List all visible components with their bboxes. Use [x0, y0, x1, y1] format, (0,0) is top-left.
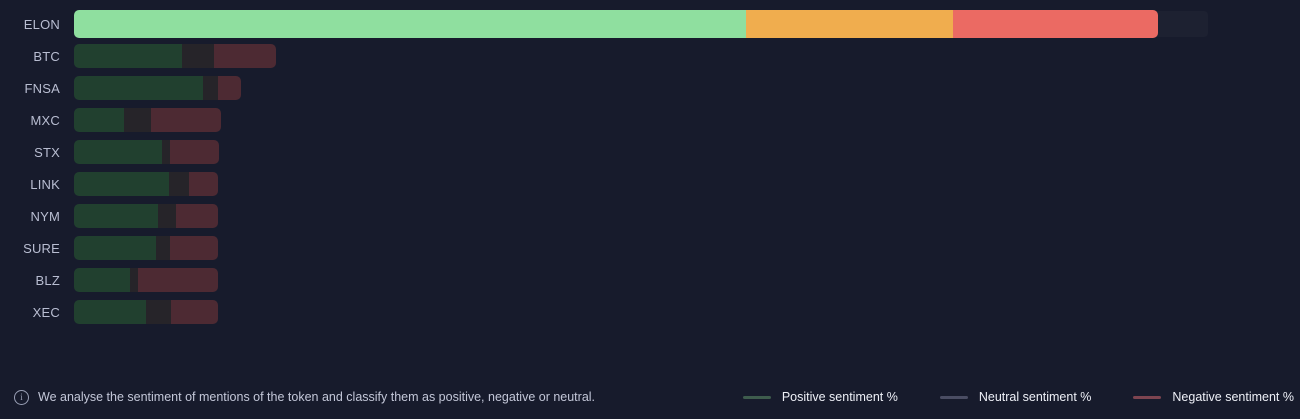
footer-note: i We analyse the sentiment of mentions o…	[14, 390, 595, 405]
bar-row-elon[interactable]: ELON	[0, 8, 1300, 40]
positive-segment[interactable]	[74, 108, 124, 132]
row-label-nym[interactable]: NYM	[0, 209, 74, 224]
positive-segment[interactable]	[74, 300, 146, 324]
neutral-segment[interactable]	[156, 236, 170, 260]
negative-segment[interactable]	[138, 268, 218, 292]
neutral-segment[interactable]	[124, 108, 151, 132]
legend-label: Neutral sentiment %	[979, 390, 1092, 404]
footer-note-text: We analyse the sentiment of mentions of …	[38, 390, 595, 404]
bar-row-link[interactable]: LINK	[0, 168, 1300, 200]
neutral-segment[interactable]	[169, 172, 189, 196]
legend-item-0[interactable]: Positive sentiment %	[743, 390, 898, 404]
stacked-bar[interactable]	[74, 268, 218, 292]
row-label-fnsa[interactable]: FNSA	[0, 81, 74, 96]
legend-item-2[interactable]: Negative sentiment %	[1133, 390, 1294, 404]
positive-segment[interactable]	[74, 76, 203, 100]
row-label-link[interactable]: LINK	[0, 177, 74, 192]
positive-segment[interactable]	[74, 268, 130, 292]
bar-row-xec[interactable]: XEC	[0, 296, 1300, 328]
stacked-bar[interactable]	[74, 172, 218, 196]
bar-row-blz[interactable]: BLZ	[0, 264, 1300, 296]
neutral-segment[interactable]	[746, 10, 953, 38]
stacked-bar[interactable]	[74, 44, 276, 68]
negative-segment[interactable]	[170, 140, 219, 164]
sentiment-bar-chart-panel: ELONBTCFNSAMXCSTXLINKNYMSUREBLZXEC i We …	[0, 0, 1300, 419]
legend-label: Positive sentiment %	[782, 390, 898, 404]
negative-segment[interactable]	[953, 10, 1158, 38]
info-icon: i	[14, 390, 29, 405]
chart-legend: Positive sentiment %Neutral sentiment %N…	[743, 375, 1294, 419]
stacked-bar[interactable]	[74, 300, 218, 324]
legend-item-1[interactable]: Neutral sentiment %	[940, 390, 1092, 404]
stacked-bar[interactable]	[74, 108, 221, 132]
negative-segment[interactable]	[176, 204, 218, 228]
neutral-segment[interactable]	[146, 300, 171, 324]
row-label-sure[interactable]: SURE	[0, 241, 74, 256]
row-label-btc[interactable]: BTC	[0, 49, 74, 64]
stacked-bar[interactable]	[74, 10, 1158, 38]
row-label-xec[interactable]: XEC	[0, 305, 74, 320]
bar-row-sure[interactable]: SURE	[0, 232, 1300, 264]
neutral-segment[interactable]	[130, 268, 138, 292]
row-label-elon[interactable]: ELON	[0, 17, 74, 32]
stacked-bar[interactable]	[74, 204, 218, 228]
bar-row-nym[interactable]: NYM	[0, 200, 1300, 232]
positive-segment[interactable]	[74, 140, 162, 164]
negative-segment[interactable]	[214, 44, 276, 68]
positive-segment[interactable]	[74, 172, 169, 196]
bar-row-stx[interactable]: STX	[0, 136, 1300, 168]
negative-segment[interactable]	[170, 236, 218, 260]
positive-segment[interactable]	[74, 10, 746, 38]
stacked-bar[interactable]	[74, 140, 219, 164]
neutral-segment[interactable]	[203, 76, 218, 100]
bar-row-btc[interactable]: BTC	[0, 40, 1300, 72]
neutral-segment[interactable]	[158, 204, 176, 228]
chart-footer: i We analyse the sentiment of mentions o…	[0, 375, 1300, 419]
row-label-blz[interactable]: BLZ	[0, 273, 74, 288]
legend-swatch-icon	[1133, 396, 1161, 399]
row-label-stx[interactable]: STX	[0, 145, 74, 160]
legend-swatch-icon	[940, 396, 968, 399]
positive-segment[interactable]	[74, 204, 158, 228]
negative-segment[interactable]	[189, 172, 218, 196]
row-label-mxc[interactable]: MXC	[0, 113, 74, 128]
bar-row-mxc[interactable]: MXC	[0, 104, 1300, 136]
positive-segment[interactable]	[74, 236, 156, 260]
bar-row-fnsa[interactable]: FNSA	[0, 72, 1300, 104]
negative-segment[interactable]	[171, 300, 218, 324]
legend-label: Negative sentiment %	[1172, 390, 1294, 404]
bar-rows-container: ELONBTCFNSAMXCSTXLINKNYMSUREBLZXEC	[0, 8, 1300, 328]
legend-swatch-icon	[743, 396, 771, 399]
stacked-bar[interactable]	[74, 236, 218, 260]
negative-segment[interactable]	[218, 76, 241, 100]
stacked-bar[interactable]	[74, 76, 241, 100]
neutral-segment[interactable]	[182, 44, 214, 68]
neutral-segment[interactable]	[162, 140, 170, 164]
positive-segment[interactable]	[74, 44, 182, 68]
negative-segment[interactable]	[151, 108, 221, 132]
